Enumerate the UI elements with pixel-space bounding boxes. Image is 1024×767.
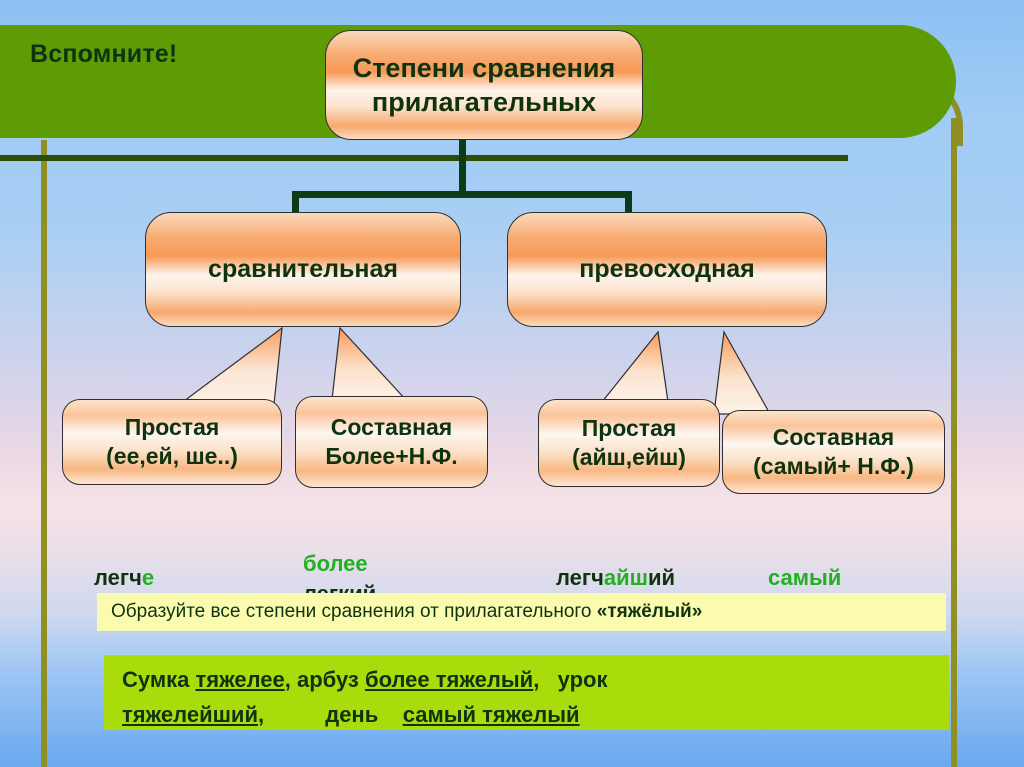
branch-box-superlative[interactable]: превосходная	[507, 212, 827, 327]
callout-4-line1: Составная	[773, 424, 894, 450]
example-1-highlight: е	[142, 565, 154, 590]
frame-right-line	[951, 118, 957, 767]
example-2-highlight: более	[303, 551, 368, 576]
answer-underline-1: тяжелее	[195, 667, 284, 692]
answer-line-1: Сумка тяжелее, арбуз более тяжелый, урок	[122, 662, 949, 697]
answer-box: Сумка тяжелее, арбуз более тяжелый, урок…	[104, 655, 949, 730]
callout-3-line1: Простая	[582, 415, 677, 441]
callout-4-line2: (самый+ Н.Ф.)	[753, 453, 914, 479]
callout-1-line1: Простая	[125, 414, 220, 440]
callout-simple-comparative[interactable]: Простая (ее,ей, ше..)	[62, 399, 282, 485]
callout-1-line2: (ее,ей, ше..)	[106, 443, 238, 469]
example-3-highlight: айш	[604, 565, 648, 590]
example-word-1: легче	[94, 533, 154, 593]
callout-2-line2: Более+Н.Ф.	[325, 443, 457, 469]
callout-2-line1: Составная	[331, 414, 452, 440]
example-3-suffix: ий	[648, 565, 675, 590]
callout-simple-superlative[interactable]: Простая (айш,ейш)	[538, 399, 720, 487]
task-plain: Образуйте все степени сравнения от прила…	[111, 601, 597, 622]
frame-left-line	[41, 140, 47, 767]
example-word-3: легчайший	[556, 533, 675, 593]
answer-underline-4: самый тяжелый	[403, 702, 580, 727]
answer-underline-2: более тяжелый	[365, 667, 533, 692]
example-3-prefix: легч	[556, 565, 604, 590]
callout-tail-2	[330, 326, 450, 402]
example-4-highlight: самый	[768, 565, 841, 590]
answer-1b: , арбуз	[285, 667, 365, 692]
callout-tail-3	[600, 330, 710, 404]
callout-compound-comparative[interactable]: Составная Более+Н.Ф.	[295, 396, 488, 488]
callout-tail-1	[178, 326, 298, 406]
task-strip: Образуйте все степени сравнения от прила…	[97, 593, 946, 631]
callout-compound-superlative[interactable]: Составная (самый+ Н.Ф.)	[722, 410, 945, 494]
branch-box-comparative[interactable]: сравнительная	[145, 212, 461, 327]
callout-tail-4	[712, 330, 842, 416]
header-rule	[0, 155, 848, 161]
title-box: Степени сравнения прилагательных	[325, 30, 643, 140]
connector-trunk	[459, 132, 466, 197]
recall-label: Вспомните!	[30, 40, 177, 69]
example-1-prefix: легч	[94, 565, 142, 590]
answer-line-2: тяжелейший, день самый тяжелый	[122, 697, 949, 732]
callout-3-line2: (айш,ейш)	[572, 444, 686, 470]
slide-canvas: Вспомните! Степени сравнения прилагатель…	[0, 0, 1024, 767]
connector-crossbar	[292, 191, 632, 198]
answer-1c: , урок	[533, 667, 607, 692]
task-bold-word: «тяжёлый»	[597, 601, 703, 622]
answer-1a: Сумка	[122, 667, 195, 692]
task-text: Образуйте все степени сравнения от прила…	[111, 601, 702, 623]
answer-2a: , день	[258, 702, 403, 727]
answer-underline-3: тяжелейший	[122, 702, 258, 727]
